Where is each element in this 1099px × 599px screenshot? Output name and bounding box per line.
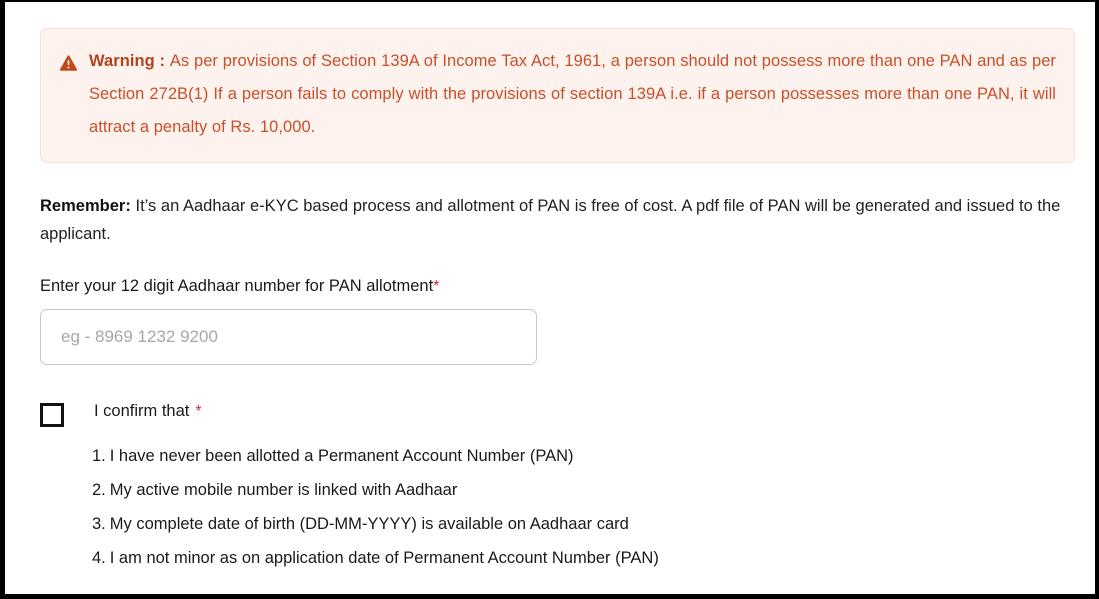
remember-label: Remember:: [40, 197, 131, 215]
aadhaar-number-input[interactable]: [40, 309, 537, 365]
list-item: 3.My complete date of birth (DD-MM-YYYY)…: [92, 507, 1080, 541]
aadhaar-field-label: Enter your 12 digit Aadhaar number for P…: [40, 276, 1080, 297]
list-item-text: My complete date of birth (DD-MM-YYYY) i…: [110, 515, 629, 533]
pan-allotment-form: Warning : As per provisions of Section 1…: [40, 28, 1080, 575]
confirm-declaration-list: 1.I have never been allotted a Permanent…: [92, 439, 1080, 575]
list-item-text: I am not minor as on application date of…: [110, 549, 659, 567]
aadhaar-required-asterisk: *: [433, 278, 439, 295]
list-item-text: My active mobile number is linked with A…: [110, 481, 458, 499]
warning-separator: :: [155, 52, 170, 70]
list-item-number: 2.: [92, 481, 106, 499]
page-frame: Warning : As per provisions of Section 1…: [5, 2, 1095, 594]
warning-triangle-icon: [59, 54, 78, 73]
remember-body: It’s an Aadhaar e-KYC based process and …: [40, 197, 1060, 243]
list-item: 2.My active mobile number is linked with…: [92, 473, 1080, 507]
list-item-number: 1.: [92, 447, 106, 465]
confirm-label: I confirm that*: [94, 399, 202, 424]
confirm-row[interactable]: I confirm that*: [40, 399, 1080, 427]
list-item: 1.I have never been allotted a Permanent…: [92, 439, 1080, 473]
remember-note: Remember: It’s an Aadhaar e-KYC based pr…: [40, 192, 1062, 248]
list-item: 4.I am not minor as on application date …: [92, 541, 1080, 575]
warning-body: As per provisions of Section 139A of Inc…: [89, 52, 1056, 136]
list-item-number: 3.: [92, 515, 106, 533]
aadhaar-label-text: Enter your 12 digit Aadhaar number for P…: [40, 277, 433, 295]
list-item-number: 4.: [92, 549, 106, 567]
warning-label: Warning: [89, 52, 155, 70]
confirm-required-asterisk: *: [195, 403, 201, 420]
list-item-text: I have never been allotted a Permanent A…: [110, 447, 574, 465]
confirm-checkbox[interactable]: [40, 403, 64, 427]
confirm-label-text: I confirm that: [94, 402, 189, 420]
warning-banner: Warning : As per provisions of Section 1…: [40, 28, 1075, 163]
warning-text: Warning : As per provisions of Section 1…: [89, 45, 1056, 144]
